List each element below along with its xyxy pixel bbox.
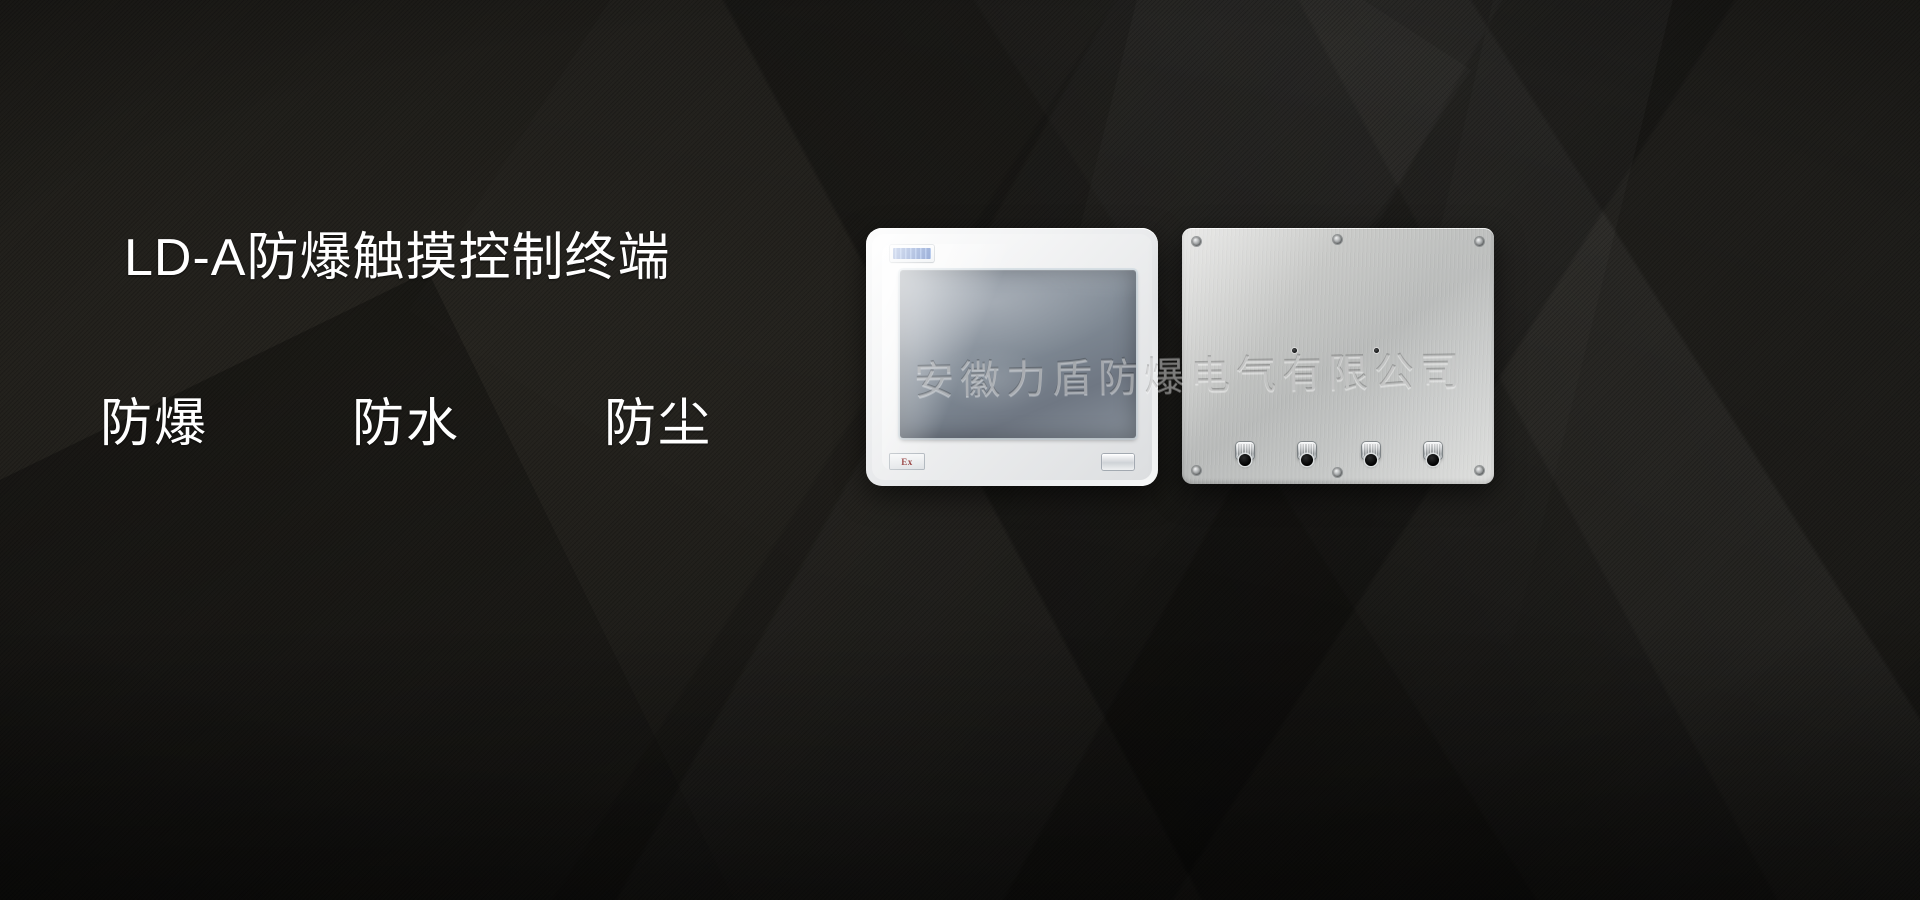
cable-gland-bore [1427, 454, 1439, 466]
ex-marking-badge: Ex [890, 454, 924, 469]
brand-logo-icon [890, 245, 934, 262]
front-panel-bezel: Ex [872, 234, 1152, 480]
screen-glare-secondary-icon [919, 341, 1065, 418]
product-back-plate [1182, 228, 1494, 484]
product-front-panel: Ex [866, 228, 1158, 486]
cable-gland-bore [1239, 454, 1251, 466]
touch-screen [900, 270, 1136, 438]
screw-icon [1192, 237, 1201, 246]
cable-gland-bore [1301, 454, 1313, 466]
cable-gland-icon [1360, 442, 1382, 468]
cable-gland-bore [1365, 454, 1377, 466]
product-photo-group: Ex [0, 0, 1920, 900]
screw-icon [1192, 466, 1201, 475]
ex-marking-label: Ex [901, 457, 913, 467]
metal-sheen [1182, 228, 1494, 484]
vent-hole-icon [1292, 348, 1297, 353]
vent-hole-icon [1374, 348, 1379, 353]
brand-logo-mark-icon [893, 248, 931, 259]
cable-gland-icon [1422, 442, 1444, 468]
screw-icon [1333, 468, 1342, 477]
screw-icon [1333, 235, 1342, 244]
connector-port-icon [1102, 454, 1134, 470]
screw-icon [1475, 466, 1484, 475]
banner-stage: LD-A防爆触摸控制终端 防爆 防水 防尘 Ex [0, 0, 1920, 900]
cable-gland-icon [1234, 442, 1256, 468]
cable-gland-icon [1296, 442, 1318, 468]
screw-icon [1475, 237, 1484, 246]
